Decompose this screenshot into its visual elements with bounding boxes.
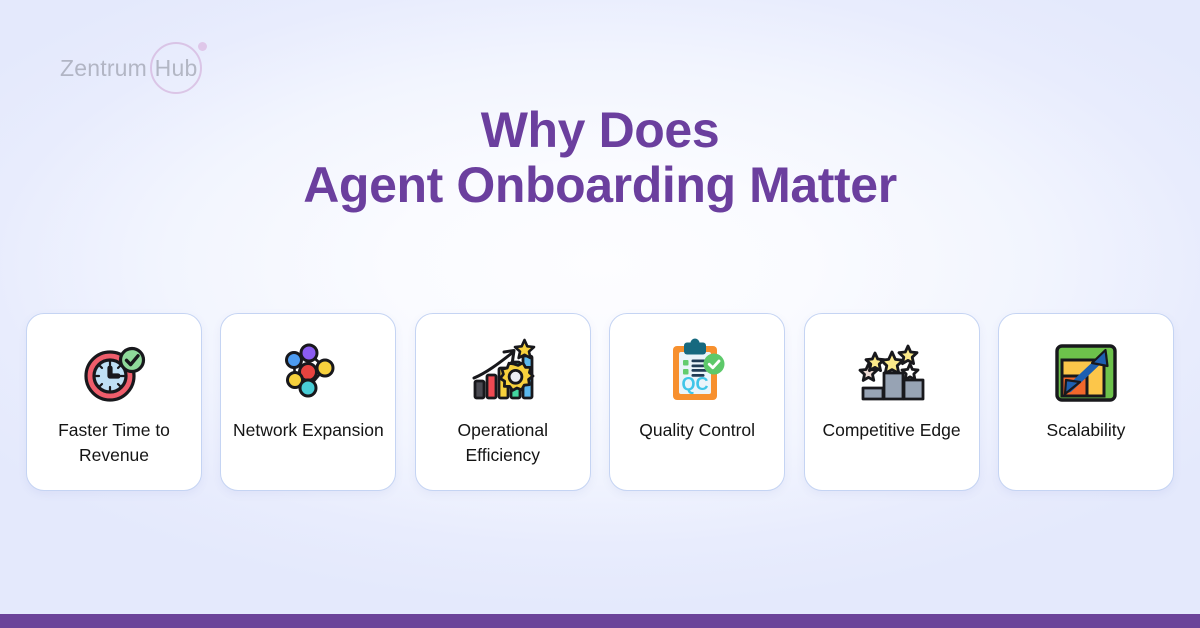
benefit-card-scalability[interactable]: Scalability — [998, 313, 1174, 491]
benefit-card-list: Faster Time to Revenue — [26, 313, 1174, 491]
network-nodes-icon — [271, 336, 345, 410]
brand-logo[interactable]: Zentrum Hub — [60, 40, 204, 96]
benefit-card-label: Operational Efficiency — [416, 418, 590, 469]
growth-chart-gear-icon — [466, 336, 540, 410]
brand-name-primary: Zentrum — [60, 55, 147, 82]
brand-name-secondary: Hub — [155, 55, 198, 82]
benefit-card-label: Network Expansion — [225, 418, 392, 443]
scale-arrow-icon — [1049, 336, 1123, 410]
benefit-card-faster-time-to-revenue[interactable]: Faster Time to Revenue — [26, 313, 202, 491]
benefit-card-quality-control[interactable]: QC Quality Control — [609, 313, 785, 491]
benefit-card-competitive-edge[interactable]: Competitive Edge — [804, 313, 980, 491]
benefit-card-network-expansion[interactable]: Network Expansion — [220, 313, 396, 491]
page-title-line-2: Agent Onboarding Matter — [0, 158, 1200, 213]
benefit-card-label: Quality Control — [631, 418, 763, 443]
brand-dot-icon — [198, 42, 207, 51]
stopwatch-check-icon — [77, 336, 151, 410]
benefit-card-label: Scalability — [1039, 418, 1134, 443]
brand-hub-badge: Hub — [148, 40, 204, 96]
benefit-card-operational-efficiency[interactable]: Operational Efficiency — [415, 313, 591, 491]
benefit-card-label: Faster Time to Revenue — [27, 418, 201, 469]
clipboard-qc-icon: QC — [660, 336, 734, 410]
clipboard-badge-text: QC — [682, 374, 709, 394]
page-title: Why Does Agent Onboarding Matter — [0, 103, 1200, 212]
footer-accent-bar — [0, 614, 1200, 628]
page-title-line-1: Why Does — [481, 102, 720, 158]
benefit-card-label: Competitive Edge — [814, 418, 968, 443]
podium-stars-icon — [855, 336, 929, 410]
